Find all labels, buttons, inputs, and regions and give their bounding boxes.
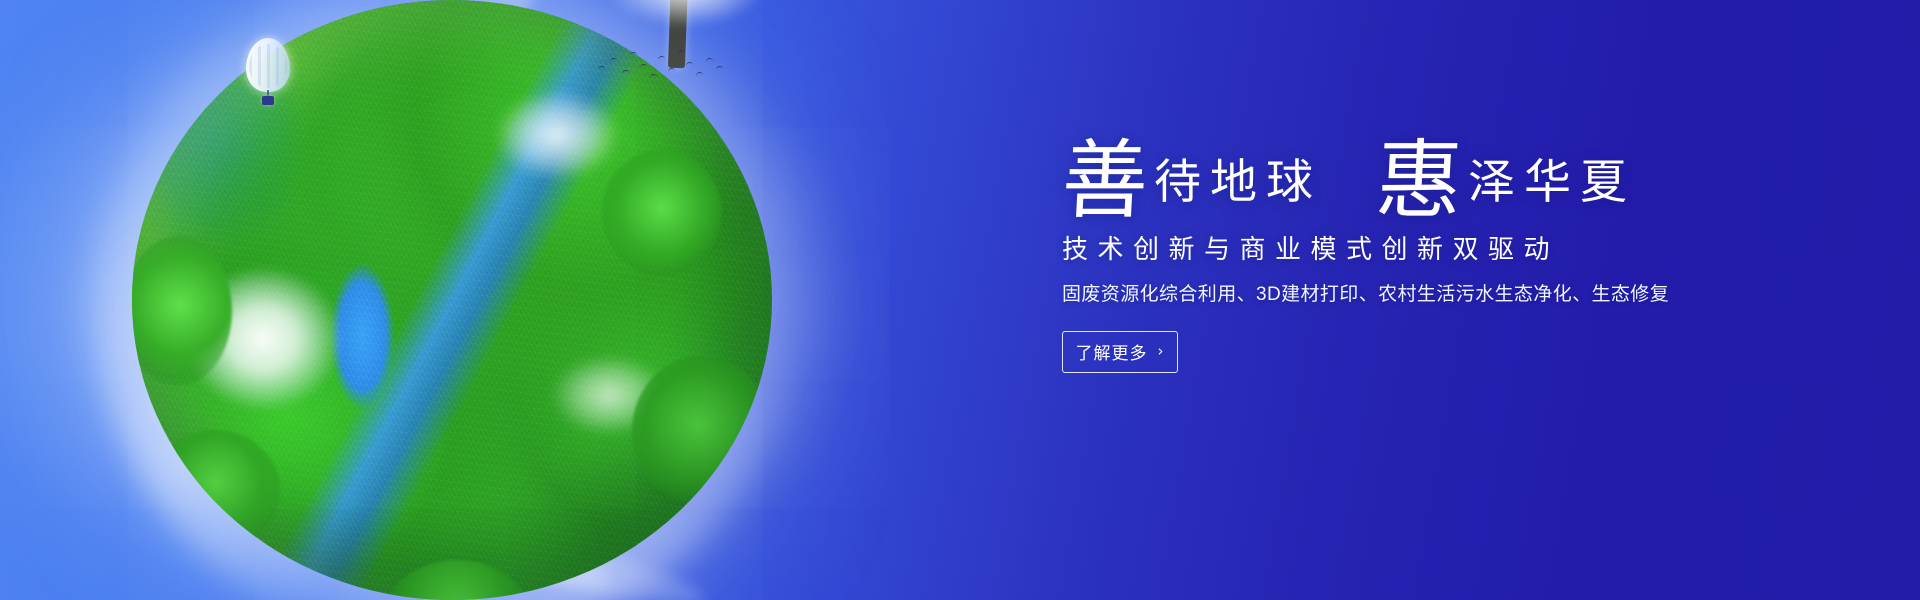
tree-canopy xyxy=(132,236,232,386)
headline-part-1-small: 待地球 xyxy=(1154,160,1322,207)
bird-icon xyxy=(686,62,693,67)
tree-canopy xyxy=(632,356,772,506)
learn-more-button[interactable]: 了解更多 › xyxy=(1062,331,1178,373)
bird-icon xyxy=(658,56,665,61)
headline-part-1-large: 善 xyxy=(1060,140,1150,223)
hot-air-balloon-icon xyxy=(246,38,290,114)
tree-canopy xyxy=(602,150,722,275)
bird-icon xyxy=(650,74,657,79)
subheadline: 技术创新与商业模式创新双驱动 xyxy=(1062,233,1762,267)
balloon-envelope xyxy=(246,38,290,92)
bird-icon xyxy=(706,58,713,63)
balloon-stripes xyxy=(249,44,287,88)
hero-banner: 善 待地球 惠 泽华夏 技术创新与商业模式创新双驱动 固废资源化综合利用、3D建… xyxy=(0,0,1920,600)
balloon-basket xyxy=(262,96,274,105)
bird-icon xyxy=(598,66,605,71)
tree-canopy xyxy=(382,560,532,600)
bird-icon xyxy=(678,50,685,55)
bird-flock xyxy=(596,44,726,92)
tree-mist xyxy=(580,0,790,44)
bird-icon xyxy=(716,66,723,71)
bird-icon xyxy=(630,52,637,57)
planet-cloud xyxy=(160,240,375,455)
learn-more-label: 了解更多 xyxy=(1076,339,1148,364)
bird-icon xyxy=(696,72,703,77)
headline-part-2-large: 惠 xyxy=(1374,140,1464,223)
bird-icon xyxy=(622,70,629,75)
hero-copy: 善 待地球 惠 泽华夏 技术创新与商业模式创新双驱动 固废资源化综合利用、3D建… xyxy=(1062,136,1762,373)
bird-icon xyxy=(640,64,647,69)
description-text: 固废资源化综合利用、3D建材打印、农村生活污水生态净化、生态修复 xyxy=(1062,282,1762,309)
bird-icon xyxy=(668,68,675,73)
headline-part-2-small: 泽华夏 xyxy=(1468,160,1636,207)
headline: 善 待地球 惠 泽华夏 xyxy=(1062,136,1762,219)
bird-icon xyxy=(610,58,617,63)
planet-cloud xyxy=(524,330,694,460)
chevron-right-icon: › xyxy=(1158,344,1165,359)
tree-canopy xyxy=(150,430,280,550)
